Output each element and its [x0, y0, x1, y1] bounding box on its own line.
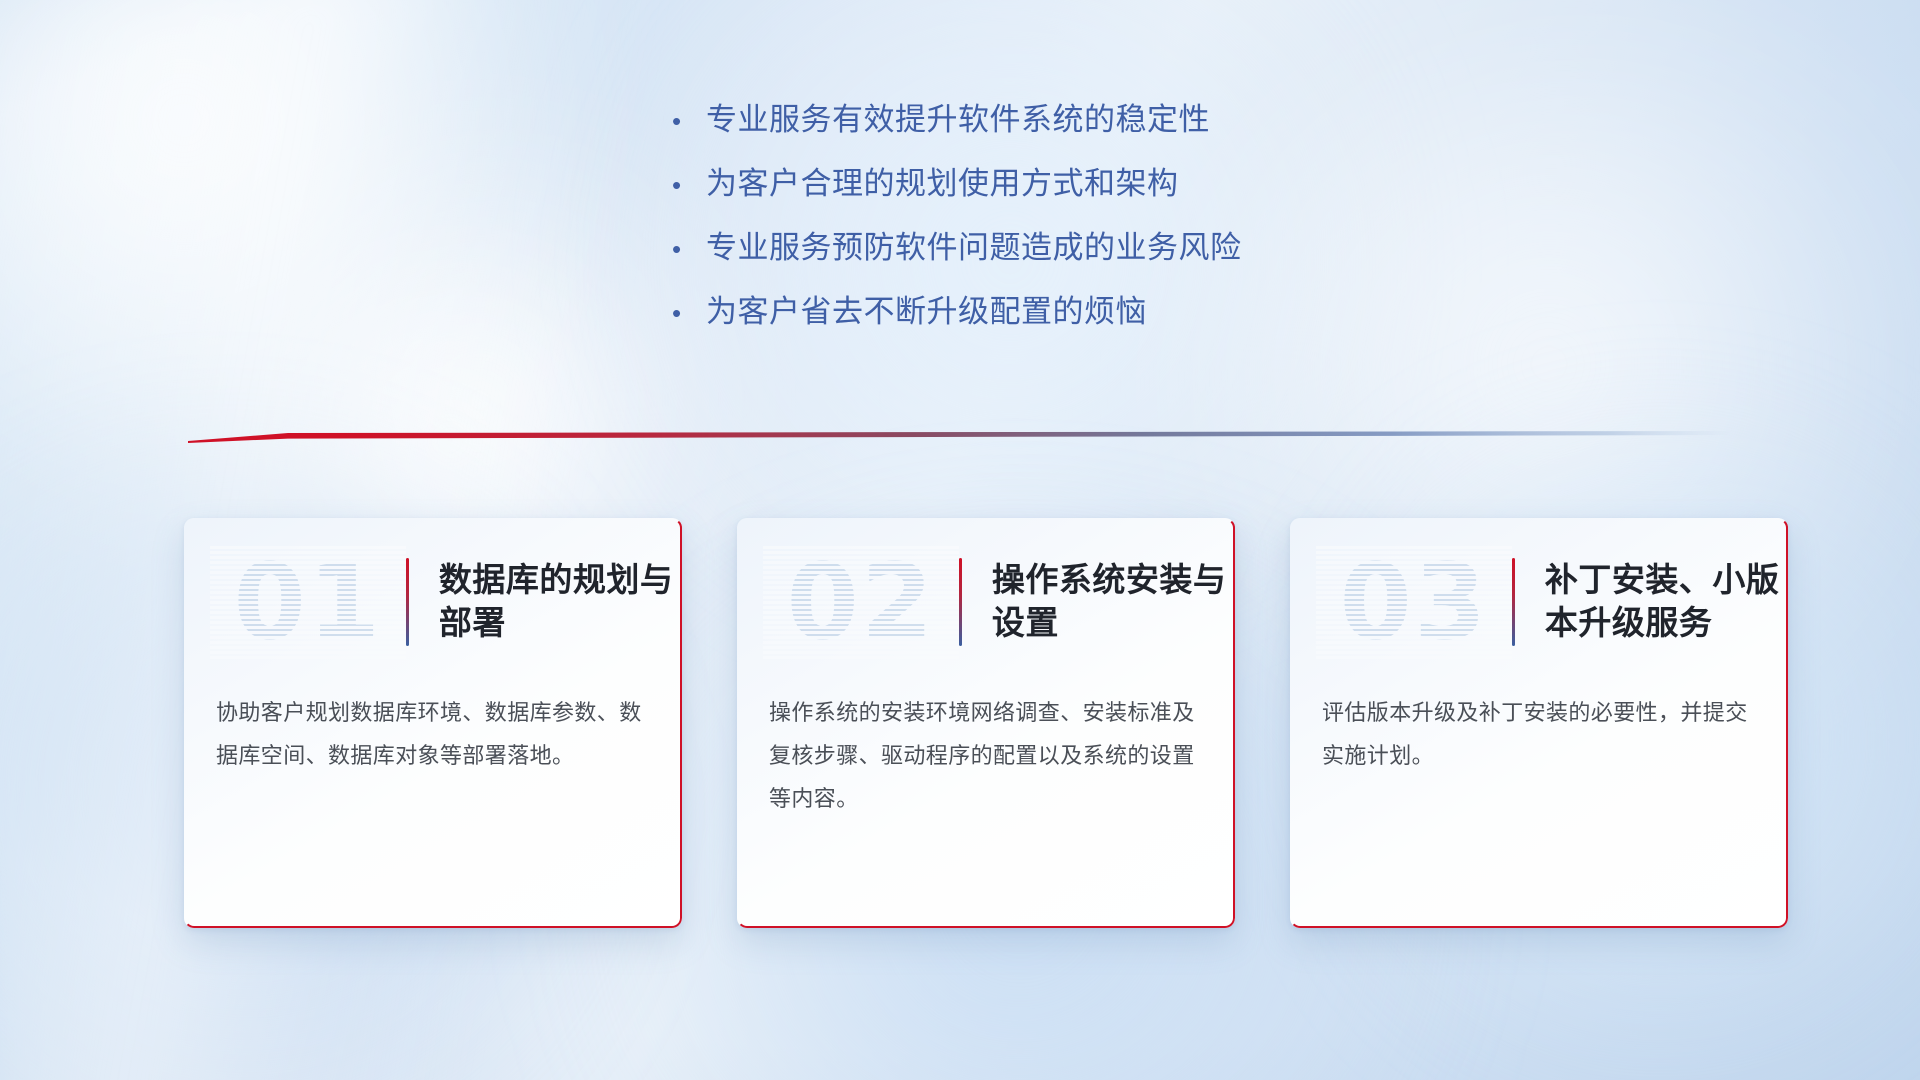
card-divider-bar — [406, 558, 409, 646]
list-item: • 专业服务预防软件问题造成的业务风险 — [672, 232, 1492, 263]
service-card[interactable]: 03 补丁安装、小版本升级服务 评估版本升级及补丁安装的必要性，并提交实施计划。 — [1290, 518, 1788, 928]
card-divider-bar — [1512, 558, 1515, 646]
bullet-dot-icon: • — [672, 300, 706, 326]
card-header: 01 数据库的规划与部署 — [184, 518, 682, 686]
bullet-dot-icon: • — [672, 236, 706, 262]
service-card[interactable]: 01 数据库的规划与部署 协助客户规划数据库环境、数据库参数、数据库空间、数据库… — [184, 518, 682, 928]
list-item: • 为客户省去不断升级配置的烦恼 — [672, 296, 1492, 327]
card-number: 02 — [767, 550, 955, 654]
bullet-text: 专业服务预防软件问题造成的业务风险 — [706, 232, 1242, 263]
card-number: 01 — [214, 550, 402, 654]
card-description: 协助客户规划数据库环境、数据库参数、数据库空间、数据库对象等部署落地。 — [184, 692, 682, 778]
service-card-list: 01 数据库的规划与部署 协助客户规划数据库环境、数据库参数、数据库空间、数据库… — [184, 518, 1788, 928]
benefits-bullet-list: • 专业服务有效提升软件系统的稳定性 • 为客户合理的规划使用方式和架构 • 专… — [672, 104, 1492, 360]
bullet-dot-icon: • — [672, 172, 706, 198]
list-item: • 专业服务有效提升软件系统的稳定性 — [672, 104, 1492, 135]
service-card[interactable]: 02 操作系统安装与设置 操作系统的安装环境网络调查、安装标准及复核步骤、驱动程… — [737, 518, 1235, 928]
card-number: 03 — [1320, 550, 1508, 654]
card-description: 评估版本升级及补丁安装的必要性，并提交实施计划。 — [1290, 692, 1788, 778]
bullet-text: 为客户省去不断升级配置的烦恼 — [706, 296, 1147, 327]
bullet-dot-icon: • — [672, 108, 706, 134]
card-description: 操作系统的安装环境网络调查、安装标准及复核步骤、驱动程序的配置以及系统的设置等内… — [737, 692, 1235, 821]
card-title: 操作系统安装与设置 — [992, 559, 1235, 645]
card-title: 补丁安装、小版本升级服务 — [1545, 559, 1788, 645]
bullet-text: 专业服务有效提升软件系统的稳定性 — [706, 104, 1210, 135]
section-divider — [188, 430, 1732, 444]
list-item: • 为客户合理的规划使用方式和架构 — [672, 168, 1492, 199]
card-header: 02 操作系统安装与设置 — [737, 518, 1235, 686]
bullet-text: 为客户合理的规划使用方式和架构 — [706, 168, 1179, 199]
card-title: 数据库的规划与部署 — [439, 559, 682, 645]
divider-shape-icon — [188, 430, 1732, 444]
card-divider-bar — [959, 558, 962, 646]
card-header: 03 补丁安装、小版本升级服务 — [1290, 518, 1788, 686]
